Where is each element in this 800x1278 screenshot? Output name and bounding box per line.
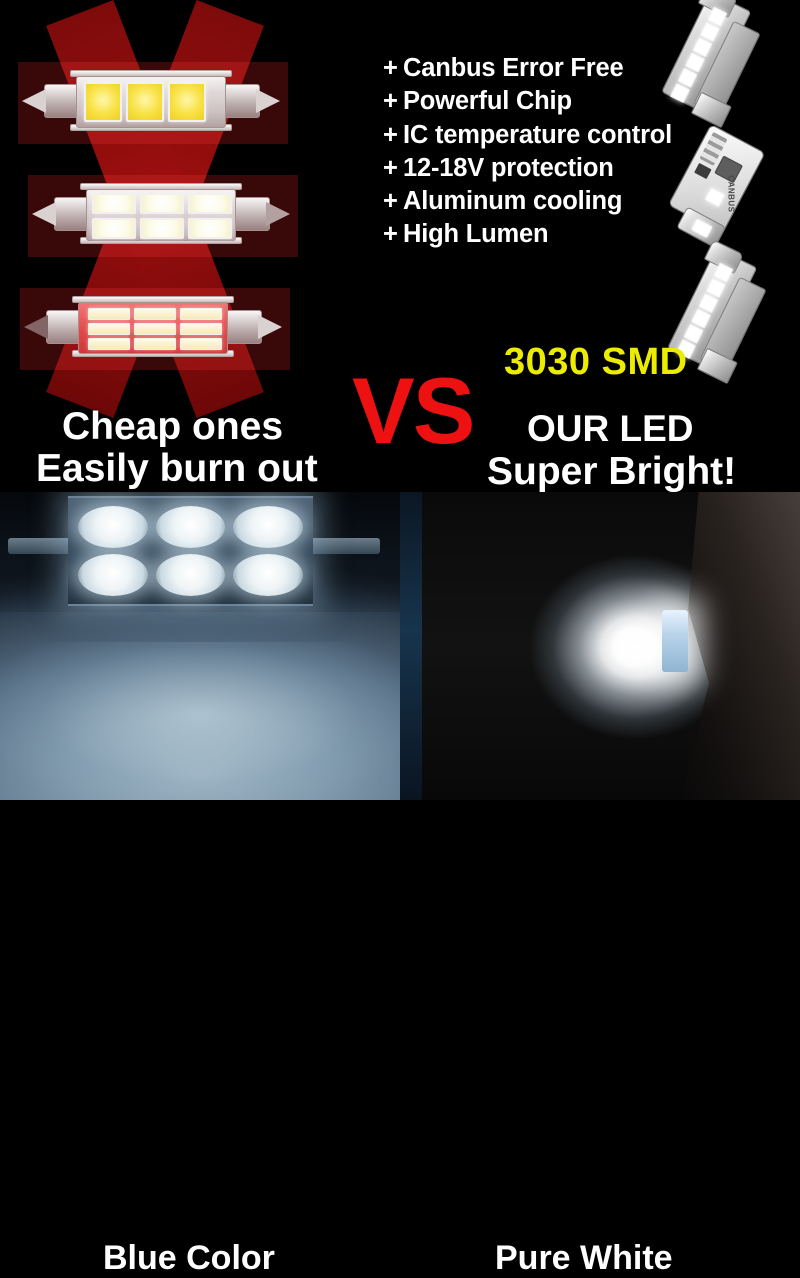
lit-led	[78, 554, 148, 596]
led-chip	[188, 218, 232, 239]
bulb-cap-right	[226, 310, 262, 344]
feature-item: +Powerful Chip	[383, 85, 683, 118]
feature-text: Powerful Chip	[403, 87, 572, 115]
feature-text: 12-18V protection	[403, 154, 614, 182]
bulb-tip-right	[256, 89, 280, 113]
feature-text: Aluminum cooling	[403, 187, 622, 215]
cheap-label-line2: Easily burn out	[36, 447, 318, 491]
led-chip	[140, 193, 184, 214]
bulb-led-grid	[84, 82, 206, 122]
led-chip	[134, 323, 176, 335]
bulb-cap-left	[54, 197, 90, 231]
feature-item: +Aluminum cooling	[383, 185, 683, 218]
feature-item: +IC temperature control	[383, 119, 683, 152]
led-chip	[88, 308, 130, 320]
plus-icon: +	[383, 218, 403, 251]
lit-led-grid	[68, 498, 313, 604]
caption-blue-color: Blue Color	[103, 1239, 275, 1278]
t10-canbus-label: CANBUS	[727, 175, 736, 212]
versus-label: VS	[352, 366, 473, 455]
led-chip	[92, 218, 136, 239]
cheap-bulb-3	[20, 288, 290, 370]
photo-comparison-strip: Blue Color Pure White	[0, 492, 800, 800]
blue-light-spill	[0, 642, 400, 800]
cheap-bulb-1	[18, 62, 288, 144]
led-chip	[180, 338, 222, 350]
led-chip	[180, 323, 222, 335]
photo-our-bulb-white	[400, 492, 800, 800]
led-chip	[92, 193, 136, 214]
bulb-tip-left	[32, 202, 56, 226]
feature-list: +Canbus Error Free +Powerful Chip +IC te…	[383, 52, 683, 252]
led-chip	[88, 338, 130, 350]
caption-pure-white: Pure White	[495, 1239, 673, 1278]
led-chip	[140, 218, 184, 239]
led-chip	[134, 308, 176, 320]
led-chip	[168, 82, 206, 122]
smd-type-badge: 3030 SMD	[504, 341, 688, 384]
cheap-bulb-2	[28, 175, 298, 257]
bulb-holder-right	[310, 538, 380, 554]
photo-left-edge	[400, 492, 422, 800]
lit-led	[233, 554, 303, 596]
lit-cheap-bulb	[68, 496, 313, 606]
our-label-line1: OUR LED	[527, 408, 694, 450]
feature-item: +Canbus Error Free	[383, 52, 683, 85]
bulb-cap-right	[224, 84, 260, 118]
cheap-label-line1: Cheap ones	[62, 405, 283, 449]
plus-icon: +	[383, 52, 403, 85]
plus-icon: +	[383, 152, 403, 185]
led-chip	[188, 193, 232, 214]
lit-our-bulb	[662, 610, 688, 672]
bulb-cap-left	[44, 84, 80, 118]
photo-cheap-bulb-blue	[0, 492, 400, 800]
lit-led	[233, 506, 303, 548]
led-chip	[88, 323, 130, 335]
plus-icon: +	[383, 185, 403, 218]
our-label-line2: Super Bright!	[487, 450, 736, 492]
feature-item: +High Lumen	[383, 218, 683, 251]
led-chip	[126, 82, 164, 122]
feature-text: Canbus Error Free	[403, 54, 624, 82]
bulb-cap-right	[234, 197, 270, 231]
plus-icon: +	[383, 119, 403, 152]
lit-led	[78, 506, 148, 548]
bulb-tip-right	[258, 315, 282, 339]
feature-item: +12-18V protection	[383, 152, 683, 185]
lit-led	[156, 554, 226, 596]
bulb-led-grid	[88, 308, 222, 350]
feature-text: High Lumen	[403, 220, 548, 248]
feature-text: IC temperature control	[403, 121, 672, 149]
bulb-led-grid	[92, 193, 232, 239]
led-chip	[84, 82, 122, 122]
comparison-top-panel: +Canbus Error Free +Powerful Chip +IC te…	[0, 0, 800, 492]
bulb-cap-left	[46, 310, 82, 344]
bulb-tip-left	[22, 89, 46, 113]
led-chip	[180, 308, 222, 320]
bulb-tip-right	[266, 202, 290, 226]
led-chip	[134, 338, 176, 350]
bulb-tip-left	[24, 315, 48, 339]
plus-icon: +	[383, 85, 403, 118]
lit-led	[156, 506, 226, 548]
